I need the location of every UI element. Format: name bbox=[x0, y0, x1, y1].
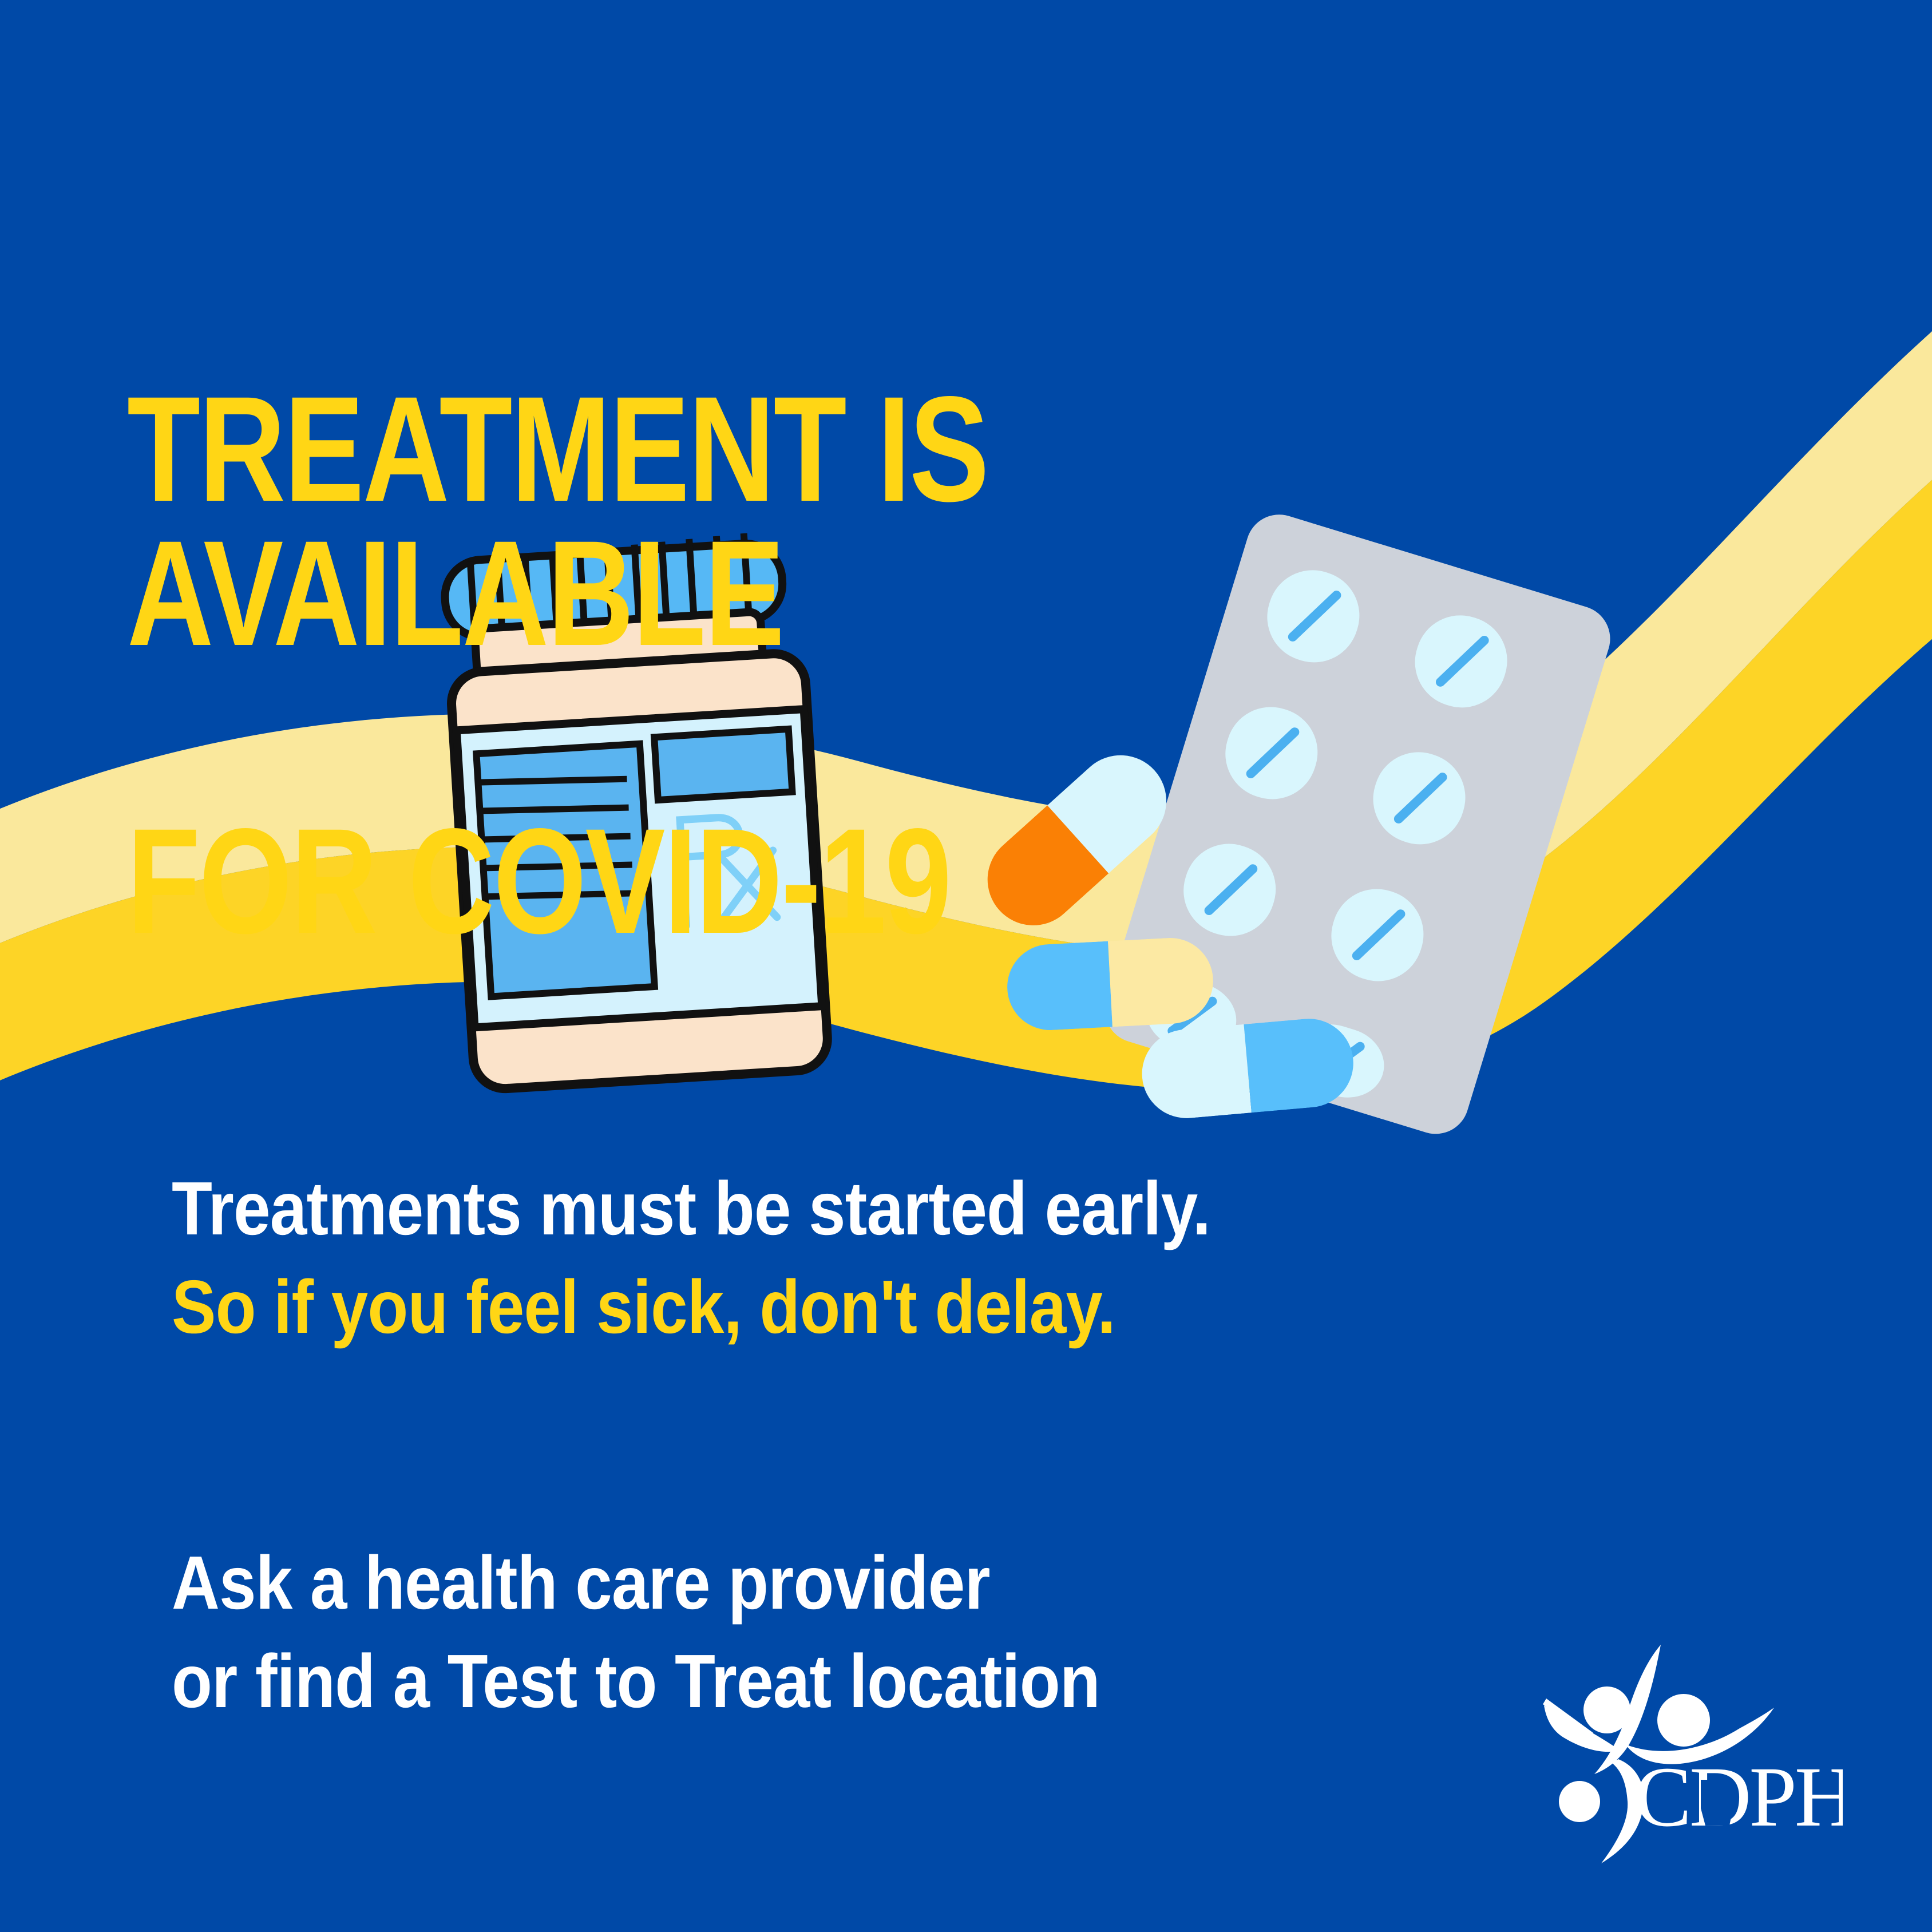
cdph-wordmark: CDPH bbox=[1634, 1749, 1843, 1844]
message-start-early: Treatments must be started early. So if … bbox=[172, 1159, 1210, 1356]
message-line-dont-delay: So if you feel sick, don't delay. bbox=[172, 1258, 1210, 1356]
figure-right-head bbox=[1657, 1694, 1710, 1747]
message-line-test-to-treat: or find a Test to Treat location bbox=[172, 1632, 1100, 1731]
cdph-logo: California Department of Public Health l… bbox=[1534, 1637, 1843, 1877]
message-line-treatments-early: Treatments must be started early. bbox=[172, 1159, 1210, 1258]
figure-foot-dot bbox=[1559, 1781, 1600, 1822]
headline-line-2: FOR COVID-19 bbox=[127, 809, 1491, 953]
message-ask-provider: Ask a health care provider or find a Tes… bbox=[172, 1534, 1100, 1730]
headline-line-1: TREATMENT IS AVAILABLE bbox=[127, 377, 1491, 665]
message-line-ask-provider: Ask a health care provider bbox=[172, 1534, 1100, 1632]
poster-canvas: TREATMENT IS AVAILABLE FOR COVID-19 Trea… bbox=[0, 0, 1932, 1932]
poster-accessible-summary: Treatment is available for COVID-19 bbox=[0, 0, 1, 1]
page-title: TREATMENT IS AVAILABLE FOR COVID-19 bbox=[127, 233, 1491, 1097]
